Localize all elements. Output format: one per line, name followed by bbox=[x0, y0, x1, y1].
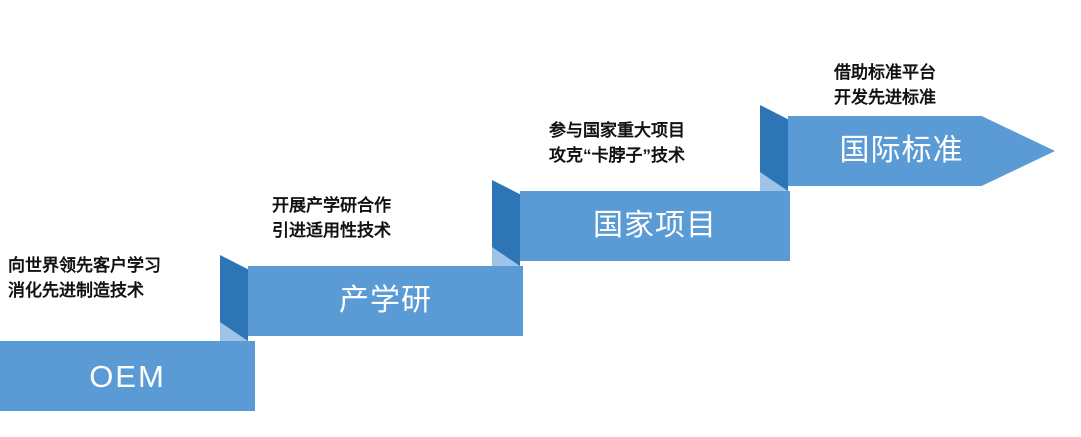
step-4-caption: 借助标准平台 开发先进标准 bbox=[834, 60, 936, 110]
step-4-caption-line-2: 开发先进标准 bbox=[834, 85, 936, 110]
step-3-bar[interactable]: 国家项目 bbox=[520, 191, 790, 261]
step-1-bar-label: OEM bbox=[89, 361, 166, 392]
step-4-bar[interactable]: 国际标准 bbox=[788, 116, 1055, 186]
step-2-bar[interactable]: 产学研 bbox=[248, 266, 523, 336]
step-1-caption-line-2: 消化先进制造技术 bbox=[8, 278, 161, 303]
step-3-bar-label: 国家项目 bbox=[593, 211, 717, 241]
step-3-caption-line-2: 攻克“卡脖子”技术 bbox=[549, 143, 685, 168]
step-4-bar-label: 国际标准 bbox=[840, 136, 964, 166]
step-2-caption-line-1: 开展产学研合作 bbox=[272, 193, 391, 218]
step-4-caption-line-1: 借助标准平台 bbox=[834, 60, 936, 85]
step-3-caption: 参与国家重大项目 攻克“卡脖子”技术 bbox=[549, 118, 685, 168]
step-1-bar[interactable]: OEM bbox=[0, 341, 255, 411]
step-1-caption-line-1: 向世界领先客户学习 bbox=[8, 253, 161, 278]
step-1-caption: 向世界领先客户学习 消化先进制造技术 bbox=[8, 253, 161, 303]
step-2-bar-label: 产学研 bbox=[339, 286, 432, 316]
staircase-diagram: 向世界领先客户学习 消化先进制造技术 OEM 开展产学研合作 引进适用性技术 产… bbox=[0, 0, 1081, 437]
step-2-caption: 开展产学研合作 引进适用性技术 bbox=[272, 193, 391, 243]
step-2-caption-line-2: 引进适用性技术 bbox=[272, 218, 391, 243]
step-3-caption-line-1: 参与国家重大项目 bbox=[549, 118, 685, 143]
